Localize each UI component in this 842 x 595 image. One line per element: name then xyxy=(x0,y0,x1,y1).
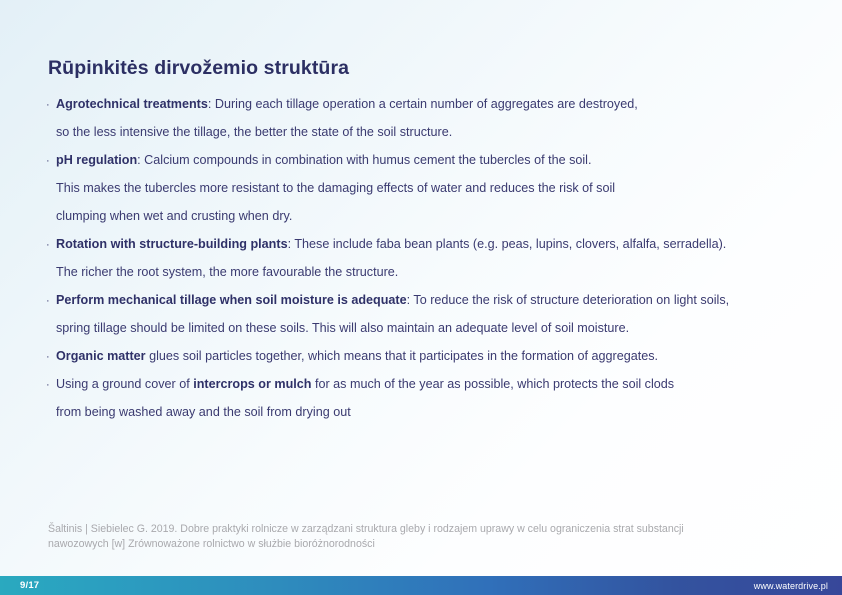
bullet-lead-in: pH regulation xyxy=(56,153,137,167)
bullet-text: : These include faba bean plants (e.g. p… xyxy=(288,237,727,251)
bullet-text: spring tillage should be limited on thes… xyxy=(56,321,629,335)
bullet-dot-icon: · xyxy=(46,343,56,371)
bullet-item: ·Agrotechnical treatments: During each t… xyxy=(46,90,816,118)
bullet-continuation-line: so the less intensive the tillage, the b… xyxy=(46,118,816,146)
slide-canvas: Rūpinkitės dirvožemio struktūra ·Agrotec… xyxy=(0,0,842,595)
bullet-lead-in: Agrotechnical treatments xyxy=(56,97,208,111)
bullet-text: glues soil particles together, which mea… xyxy=(146,349,658,363)
footer-bar: 9/17 www.waterdrive.pl xyxy=(0,576,842,595)
bullet-text: : Calcium compounds in combination with … xyxy=(137,153,591,167)
citation-line-2: nawozowych [w] Zrównoważone rolnictwo w … xyxy=(48,537,788,552)
page-number-badge: 9/17 xyxy=(0,580,39,591)
bullet-text-pre: Using a ground cover of xyxy=(56,377,193,391)
bullet-item: ·pH regulation: Calcium compounds in com… xyxy=(46,146,816,174)
bullet-continuation-line: spring tillage should be limited on thes… xyxy=(46,314,816,342)
bullet-lead-in: Rotation with structure-building plants xyxy=(56,237,288,251)
bullet-item: ·Rotation with structure-building plants… xyxy=(46,230,816,258)
bullet-item: ·Using a ground cover of intercrops or m… xyxy=(46,370,816,398)
bullet-text: : To reduce the risk of structure deteri… xyxy=(407,293,729,307)
bullet-text: from being washed away and the soil from… xyxy=(56,405,351,419)
bullet-continuation-line: The richer the root system, the more fav… xyxy=(46,258,816,286)
bullet-item: ·Organic matter glues soil particles tog… xyxy=(46,342,816,370)
citation-block: Šaltinis | Siebielec G. 2019. Dobre prak… xyxy=(48,522,788,552)
bullet-text: This makes the tubercles more resistant … xyxy=(56,181,615,195)
citation-line-1: Šaltinis | Siebielec G. 2019. Dobre prak… xyxy=(48,522,788,537)
bullet-text: so the less intensive the tillage, the b… xyxy=(56,125,452,139)
bullet-lead-in: Perform mechanical tillage when soil moi… xyxy=(56,293,407,307)
bullet-text: for as much of the year as possible, whi… xyxy=(311,377,674,391)
bullet-text: : During each tillage operation a certai… xyxy=(208,97,638,111)
bullet-text: clumping when wet and crusting when dry. xyxy=(56,209,292,223)
bullet-text: The richer the root system, the more fav… xyxy=(56,265,398,279)
bullet-lead-in: intercrops or mulch xyxy=(193,377,311,391)
website-url: www.waterdrive.pl xyxy=(754,581,842,591)
bullet-continuation-line: from being washed away and the soil from… xyxy=(46,398,816,426)
bullet-list: ·Agrotechnical treatments: During each t… xyxy=(46,90,816,426)
bullet-dot-icon: · xyxy=(46,231,56,259)
bullet-item: ·Perform mechanical tillage when soil mo… xyxy=(46,286,816,314)
bullet-dot-icon: · xyxy=(46,91,56,119)
bullet-dot-icon: · xyxy=(46,287,56,315)
bullet-continuation-line: This makes the tubercles more resistant … xyxy=(46,174,816,202)
bullet-lead-in: Organic matter xyxy=(56,349,146,363)
page-title: Rūpinkitės dirvožemio struktūra xyxy=(48,57,349,80)
bullet-dot-icon: · xyxy=(46,371,56,399)
bullet-dot-icon: · xyxy=(46,147,56,175)
bullet-continuation-line: clumping when wet and crusting when dry. xyxy=(46,202,816,230)
